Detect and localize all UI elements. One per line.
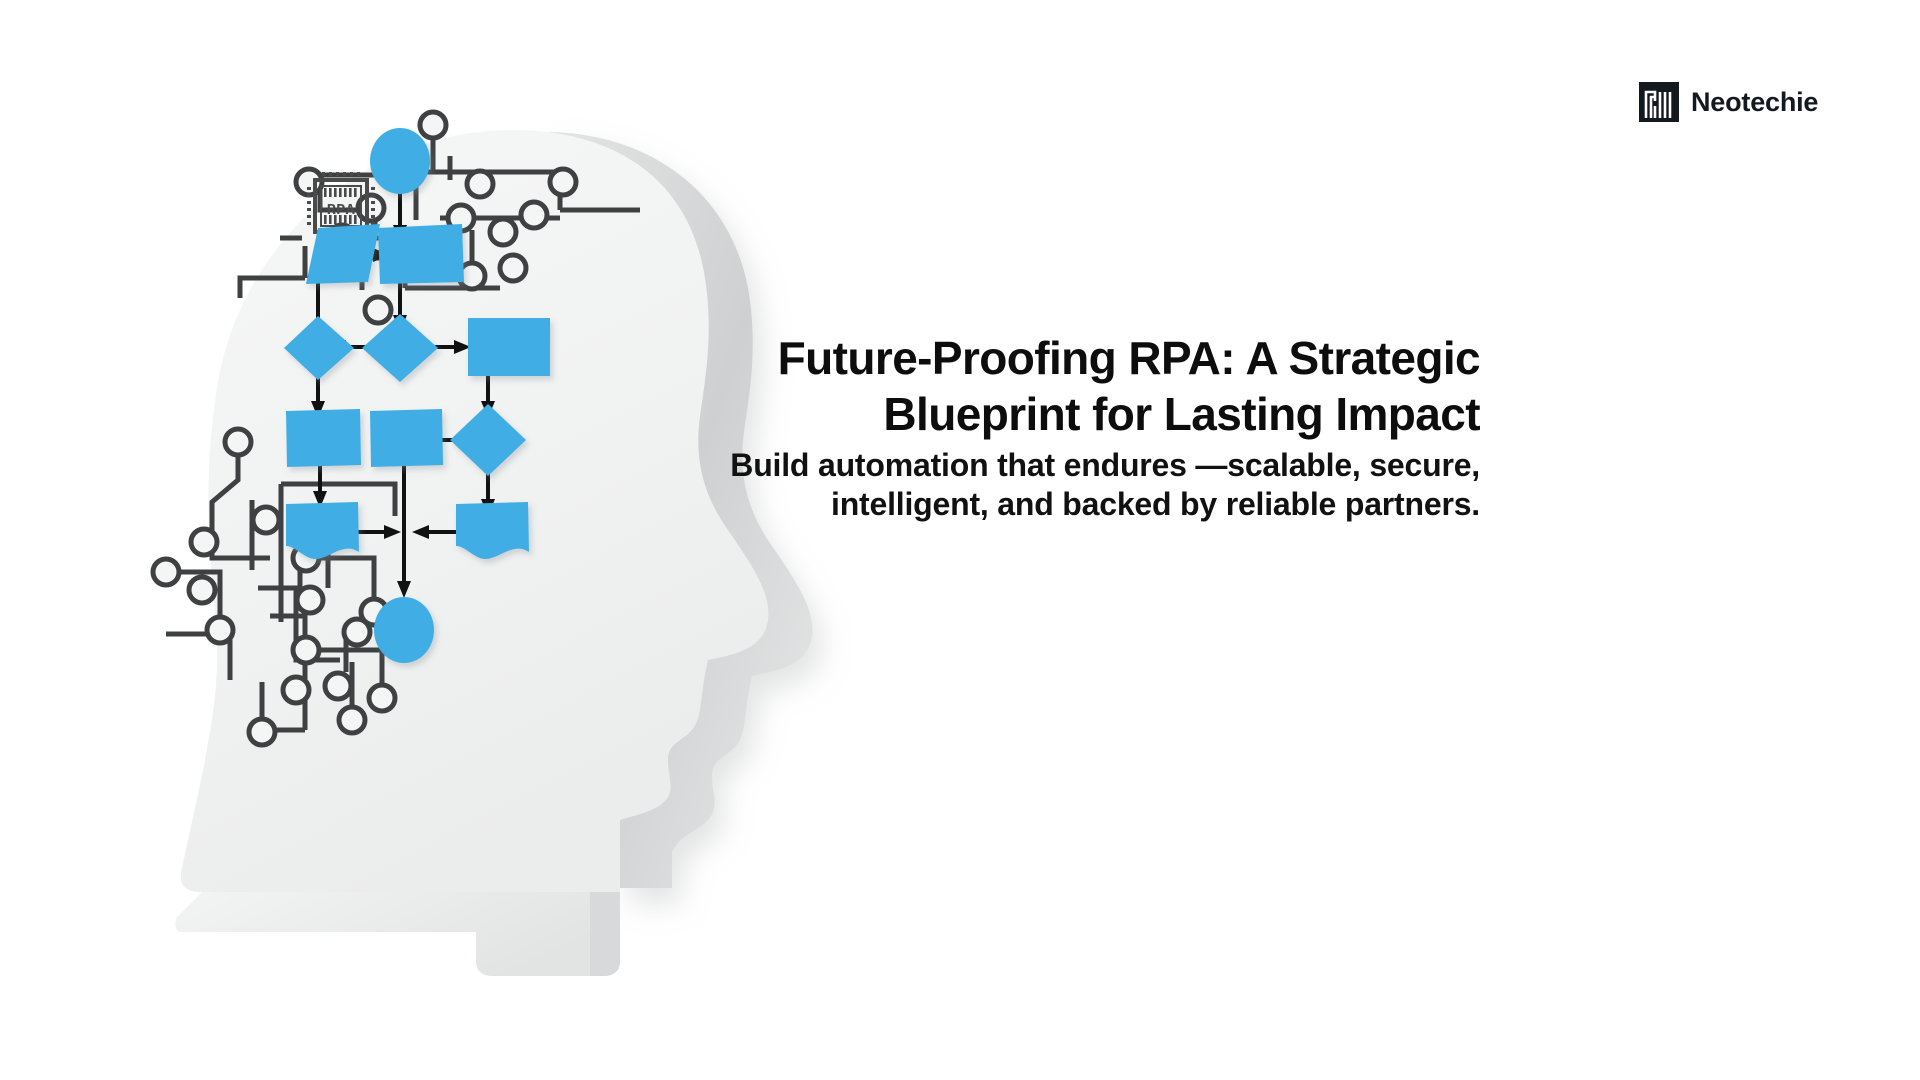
rpa-head-illustration: RPA	[120, 60, 940, 1020]
slide-canvas: RPA	[0, 0, 1920, 1080]
brand-name: Neotechie	[1691, 89, 1818, 116]
trace-node	[467, 171, 493, 197]
flow-node-rect-3	[286, 409, 361, 467]
flow-node-rect-4	[370, 409, 443, 467]
rpa-chip-label: RPA	[327, 202, 356, 219]
brand-logo[interactable]: Neotechie	[1639, 82, 1818, 122]
trace-node	[293, 637, 319, 663]
trace-node	[283, 677, 309, 703]
trace-node	[490, 219, 516, 245]
neotechie-mark-icon	[1639, 82, 1679, 122]
flow-node-rect-2	[468, 318, 550, 376]
flow-node-parallelogram	[306, 224, 380, 284]
trace-node	[521, 202, 547, 228]
trace-node	[189, 577, 215, 603]
flow-node-rect-1	[378, 224, 464, 284]
trace-node	[325, 673, 351, 699]
trace-node	[153, 559, 179, 585]
page-title: Future-Proofing RPA: A Strategic Bluepri…	[720, 330, 1480, 442]
page-subtitle: Build automation that endures —scalable,…	[720, 446, 1480, 524]
head-base-slab	[175, 892, 620, 976]
flow-node-start	[370, 128, 430, 194]
copy-block: Future-Proofing RPA: A Strategic Bluepri…	[720, 330, 1480, 524]
trace-node	[420, 112, 446, 138]
trace-node	[339, 707, 365, 733]
trace-node	[207, 617, 233, 643]
trace-node	[253, 507, 279, 533]
trace-node	[297, 587, 323, 613]
trace-node	[365, 297, 391, 323]
trace-node	[369, 685, 395, 711]
trace-node	[500, 255, 526, 281]
trace-node	[249, 719, 275, 745]
trace-node	[550, 169, 576, 195]
trace-node	[191, 529, 217, 555]
trace-node	[225, 429, 251, 455]
flow-node-end	[374, 597, 434, 663]
